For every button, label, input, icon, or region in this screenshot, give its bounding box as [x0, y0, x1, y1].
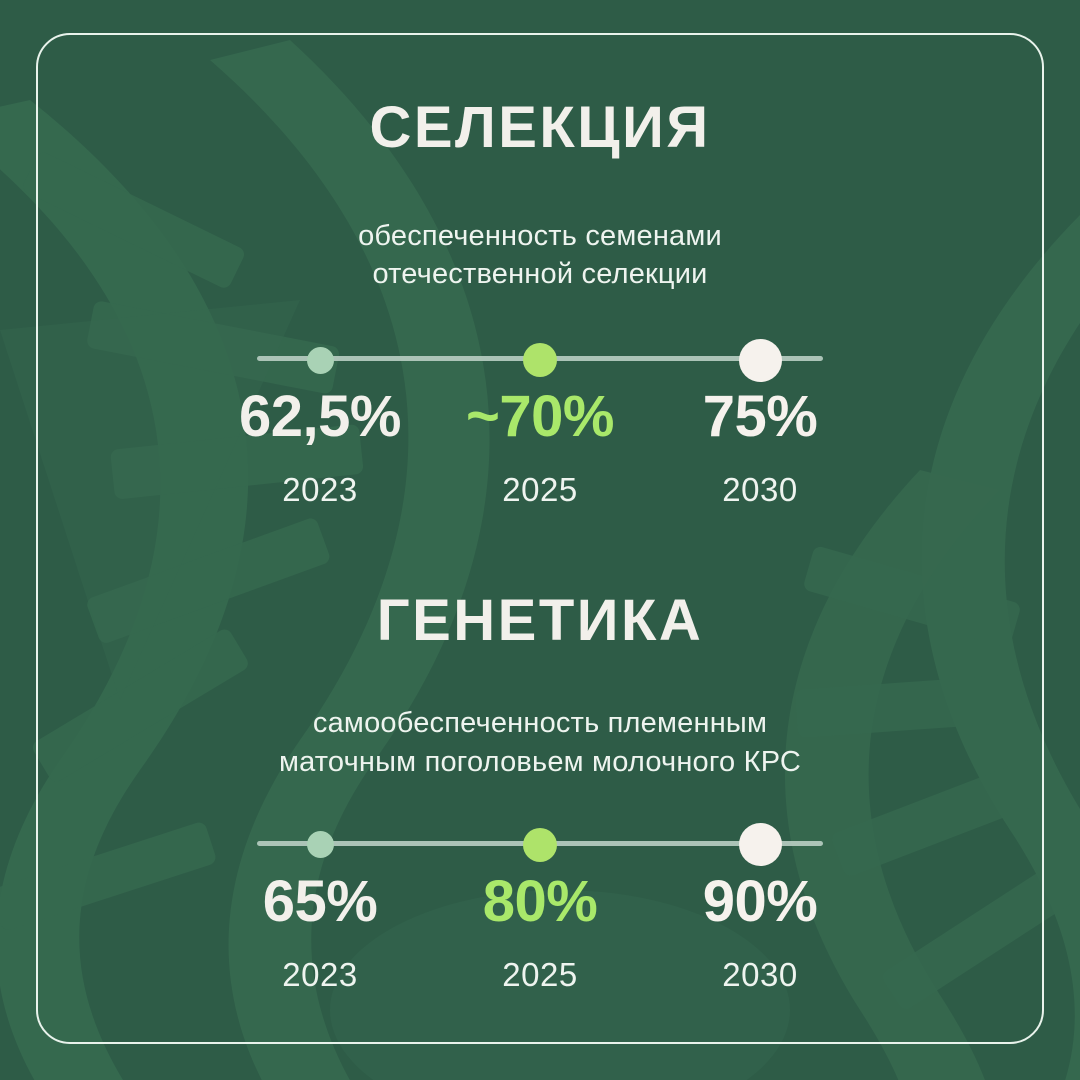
section-subtitle-selection: обеспеченность семенами отечественной се… [358, 159, 722, 294]
poster-content: СЕЛЕКЦИЯ обеспеченность семенами отечест… [0, 0, 1080, 1080]
timeline-genetics: 65% 2023 80% 2025 90% [220, 823, 860, 983]
section-subtitle-genetics: самообеспеченность племенным маточным по… [279, 652, 801, 781]
milestone-2023[interactable]: 62,5% 2023 [220, 338, 420, 509]
milestone-value: 80% [483, 873, 598, 931]
milestone-list: 62,5% 2023 ~70% 2025 75% [220, 338, 860, 498]
timeline-dot-future-icon [739, 339, 782, 382]
subtitle-line-1: обеспеченность семенами [358, 220, 722, 252]
milestone-value: 75% [703, 388, 818, 446]
milestone-2030[interactable]: 75% 2030 [660, 338, 860, 509]
subtitle-line-1: самообеспеченность племенным [313, 707, 767, 739]
milestone-2030[interactable]: 90% 2030 [660, 823, 860, 994]
timeline-dot-past-icon [307, 831, 334, 858]
milestone-value: 62,5% [239, 388, 401, 446]
milestone-dot-wrap [523, 338, 557, 382]
milestone-year: 2025 [502, 471, 577, 509]
milestone-year: 2030 [722, 956, 797, 994]
timeline-dot-future-icon [739, 823, 782, 866]
milestone-year: 2023 [282, 471, 357, 509]
infographic-poster: СЕЛЕКЦИЯ обеспеченность семенами отечест… [0, 0, 1080, 1080]
subtitle-line-2: маточным поголовьем молочного КРС [279, 746, 801, 778]
timeline-dot-current-icon [523, 343, 557, 377]
milestone-value: ~70% [466, 388, 614, 446]
section-title-genetics: ГЕНЕТИКА [377, 591, 704, 652]
milestone-dot-wrap [739, 823, 782, 867]
timeline-dot-current-icon [523, 828, 557, 862]
milestone-year: 2025 [502, 956, 577, 994]
milestone-dot-wrap [739, 338, 782, 382]
section-selection: СЕЛЕКЦИЯ обеспеченность семенами отечест… [0, 98, 1080, 498]
timeline-selection: 62,5% 2023 ~70% 2025 75% [220, 338, 860, 498]
milestone-list: 65% 2023 80% 2025 90% [220, 823, 860, 983]
milestone-year: 2023 [282, 956, 357, 994]
milestone-dot-wrap [307, 823, 334, 867]
milestone-2023[interactable]: 65% 2023 [220, 823, 420, 994]
milestone-value: 90% [703, 873, 818, 931]
milestone-dot-wrap [523, 823, 557, 867]
section-genetics: ГЕНЕТИКА самообеспеченность племенным ма… [0, 591, 1080, 982]
milestone-2025[interactable]: 80% 2025 [440, 823, 640, 994]
milestone-2025[interactable]: ~70% 2025 [440, 338, 640, 509]
milestone-dot-wrap [307, 338, 334, 382]
milestone-year: 2030 [722, 471, 797, 509]
timeline-dot-past-icon [307, 347, 334, 374]
milestone-value: 65% [263, 873, 378, 931]
section-title-selection: СЕЛЕКЦИЯ [369, 98, 710, 159]
subtitle-line-2: отечественной селекции [372, 258, 707, 290]
